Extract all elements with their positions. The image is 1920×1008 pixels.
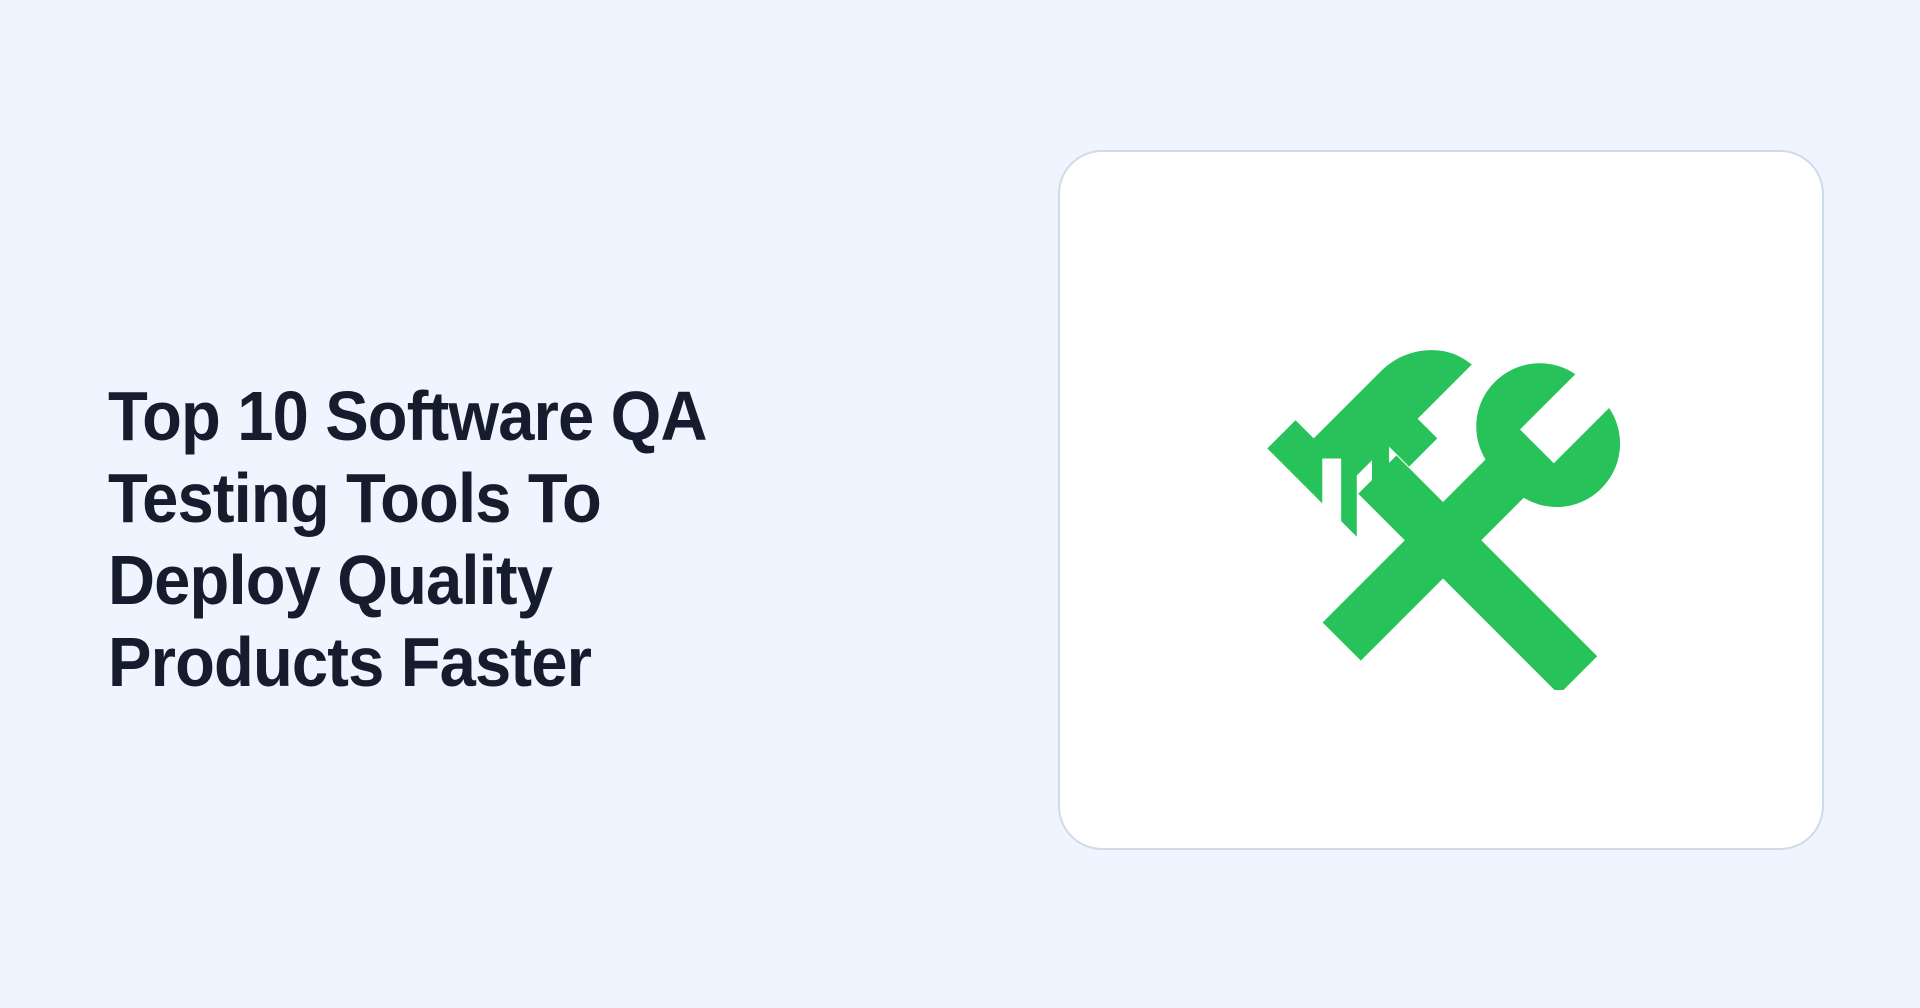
hero-text-block: Top 10 Software QA Testing Tools To Depl… [108, 376, 908, 704]
hero-section: Top 10 Software QA Testing Tools To Depl… [0, 0, 1920, 1008]
page-title: Top 10 Software QA Testing Tools To Depl… [108, 376, 852, 704]
hero-icon-card [1058, 150, 1824, 850]
hammer-and-wrench-icon [1251, 310, 1631, 690]
